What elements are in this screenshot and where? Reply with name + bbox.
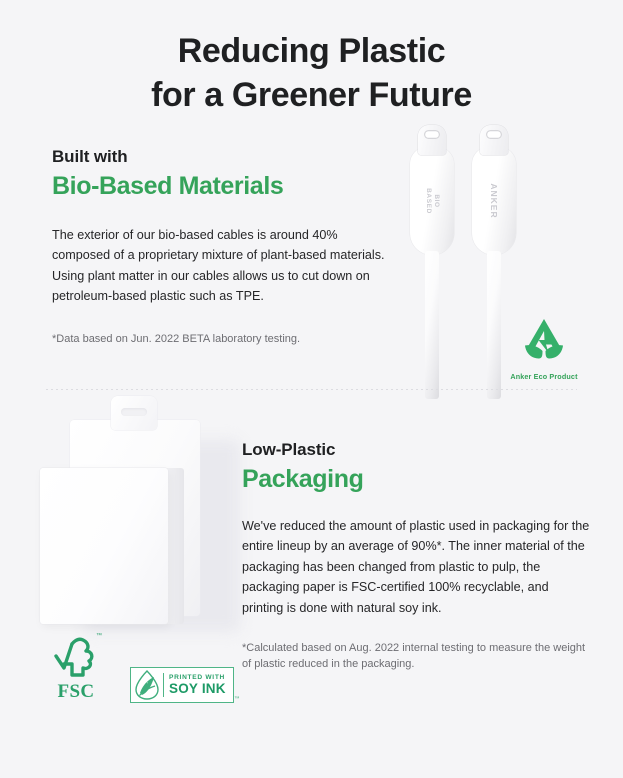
cable-left-plug-label-line2: BASED xyxy=(425,188,432,214)
page-root: Reducing Plastic for a Greener Future Bu… xyxy=(0,0,623,778)
soy-ink-line-2: SOY INK xyxy=(169,682,226,696)
soy-ink-text-block: PRINTED WITH SOY INK xyxy=(163,673,230,696)
cable-left: BIO BASED xyxy=(410,147,454,255)
fsc-label: FSC xyxy=(48,681,104,703)
section-packaging-footnote: *Calculated based on Aug. 2022 internal … xyxy=(242,640,590,673)
section-bio-based-materials: Built with Bio-Based Materials The exter… xyxy=(0,139,623,389)
section-packaging-body: We've reduced the amount of plastic used… xyxy=(242,516,590,618)
certification-logos: ™ FSC PRINTED WITH S xyxy=(48,634,234,703)
cable-left-plug-label-line1: BIO xyxy=(433,194,440,207)
cable-right: ANKER xyxy=(472,147,516,255)
cable-left-wire xyxy=(425,251,439,399)
usb-c-tip-left-icon xyxy=(418,125,446,155)
section-divider xyxy=(46,389,577,390)
fsc-certification-logo: ™ FSC xyxy=(48,634,104,703)
soy-ink-trademark-symbol: ™ xyxy=(234,696,240,702)
anker-eco-leaf-bolt-icon xyxy=(518,317,570,365)
packaging-front-panel xyxy=(40,468,168,624)
bio-cable-image: BIO BASED ANKER xyxy=(396,139,586,389)
cable-left-plug-label: BIO BASED xyxy=(424,188,440,214)
packaging-image xyxy=(48,406,238,636)
fsc-tree-checkmark-icon xyxy=(51,634,101,678)
soy-ink-certification-logo: PRINTED WITH SOY INK ™ xyxy=(130,667,234,703)
page-title-line-2: for a Greener Future xyxy=(0,74,623,118)
section-bio-body: The exterior of our bio-based cables is … xyxy=(52,225,387,307)
section-bio-text-block: Built with Bio-Based Materials The exter… xyxy=(52,147,387,347)
page-title: Reducing Plastic for a Greener Future xyxy=(0,0,623,117)
cable-right-plug-label: ANKER xyxy=(489,183,499,218)
usb-c-plug-left-icon: BIO BASED xyxy=(410,147,454,255)
section-bio-footnote: *Data based on Jun. 2022 BETA laboratory… xyxy=(52,331,387,348)
cable-right-wire xyxy=(487,251,501,399)
anker-eco-product-badge: Anker Eco Product xyxy=(508,317,580,381)
section-bio-headline: Bio-Based Materials xyxy=(52,172,387,201)
usb-c-tip-right-icon xyxy=(480,125,508,155)
section-packaging-text-block: Low-Plastic Packaging We've reduced the … xyxy=(242,440,590,673)
anker-eco-product-caption: Anker Eco Product xyxy=(508,372,580,381)
fsc-trademark-symbol: ™ xyxy=(96,633,102,639)
section-packaging-headline: Packaging xyxy=(242,465,590,494)
usb-c-plug-right-icon: ANKER xyxy=(472,147,516,255)
packaging-side-edge xyxy=(166,468,184,624)
section-packaging-eyebrow: Low-Plastic xyxy=(242,440,590,460)
soy-ink-drop-icon xyxy=(134,670,160,700)
section-low-plastic-packaging: Low-Plastic Packaging We've reduced the … xyxy=(0,406,623,736)
page-title-line-1: Reducing Plastic xyxy=(0,30,623,74)
packaging-hang-tab-icon xyxy=(111,396,157,430)
section-bio-eyebrow: Built with xyxy=(52,147,387,167)
